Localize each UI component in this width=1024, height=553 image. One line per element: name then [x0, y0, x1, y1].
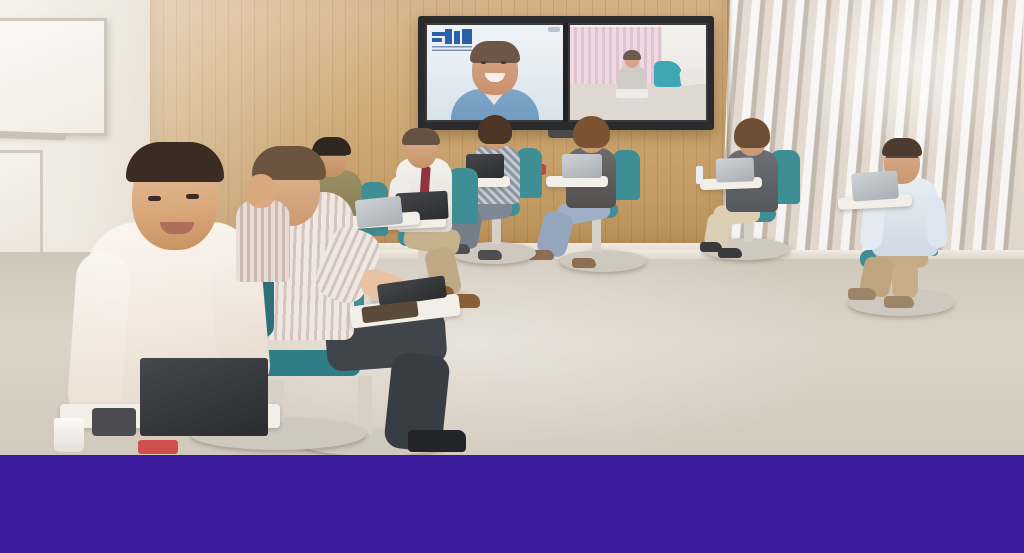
- screen-left-remote-participant: [425, 23, 565, 122]
- screen-right-bezel: [568, 23, 708, 122]
- event-photograph: [0, 0, 1024, 455]
- video-conference-screens: [418, 16, 714, 130]
- screen-right-remote-room: [568, 23, 708, 122]
- red-object: [138, 440, 178, 454]
- caption-banner: INOV-NORTE NO EVENTO Reunião do grupo ED…: [0, 455, 1024, 553]
- whiteboard-secondary: [0, 150, 43, 264]
- screenshot-root: INOV-NORTE NO EVENTO Reunião do grupo ED…: [0, 0, 1024, 553]
- paper-cup: [54, 418, 84, 452]
- whiteboard: [0, 18, 107, 136]
- tablet-on-desk: [92, 408, 136, 436]
- screen-left-bezel: [425, 23, 565, 122]
- laptop: [140, 358, 268, 436]
- water-bottle: [696, 166, 703, 184]
